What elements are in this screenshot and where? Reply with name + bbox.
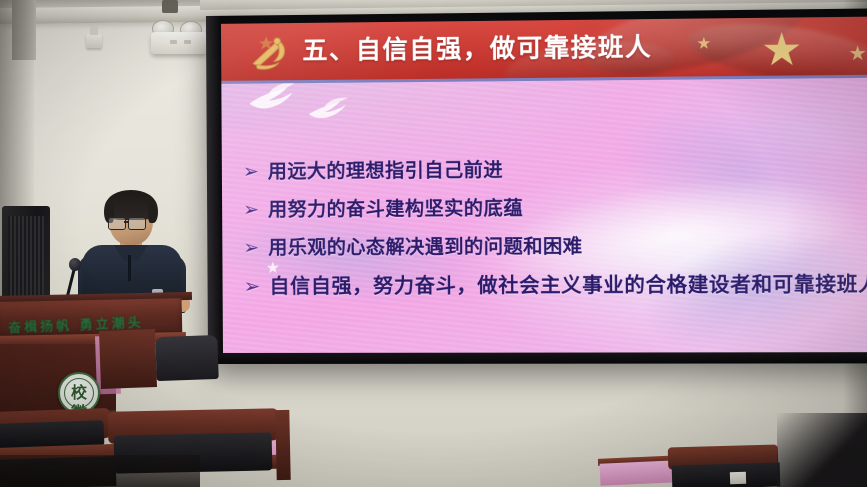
slide-bullet-item: ➢ 用远大的理想指引自己前进 <box>243 154 863 184</box>
floor-shadow <box>0 455 200 487</box>
foreground-corner-shadow <box>777 413 867 487</box>
bullet-text: 用乐观的心态解决遇到的问题和困难 <box>268 233 582 261</box>
bullet-arrow-icon: ➢ <box>244 273 261 299</box>
screen-bezel-left <box>206 16 223 364</box>
seat-side-panel <box>275 410 290 480</box>
dove-icon-left <box>246 81 304 112</box>
seat-back-wood-mid <box>99 329 157 389</box>
bullet-text: 用努力的奋斗建构坚实的底蕴 <box>268 195 523 223</box>
led-display-frame: 五、自信自强，做可靠接班人 ➢ 用远大的理想指引自己前进 ➢ 用努力的奋斗建构坚… <box>206 8 867 364</box>
lecture-hall-scene: 五、自信自强，做可靠接班人 ➢ 用远大的理想指引自己前进 ➢ 用努力的奋斗建构坚… <box>0 0 867 487</box>
emergency-light-unit <box>151 32 207 54</box>
slide-bullet-list: ➢ 用远大的理想指引自己前进 ➢ 用努力的奋斗建构坚实的底蕴 ➢ 用乐观的心态解… <box>243 154 864 311</box>
bench-surface-reflection-right <box>600 460 679 485</box>
slide-title-bar: 五、自信自强，做可靠接班人 <box>220 17 867 84</box>
glasses-lens-left <box>108 217 126 230</box>
slide-bullet-item: ➢ 用乐观的心态解决遇到的问题和困难 <box>243 232 863 261</box>
ceiling-mount-bracket <box>162 0 178 13</box>
emergency-light-led-left <box>170 40 177 44</box>
presenter-shirt-placket <box>128 255 131 281</box>
dove-icon-right <box>307 97 353 121</box>
glasses-lens-right <box>128 217 146 230</box>
glasses-bridge <box>124 221 129 223</box>
bullet-text: 自信自强，努力奋斗，做社会主义事业的合格建设者和可靠接班人 <box>269 271 867 299</box>
presenter-hair-side-right <box>148 199 158 223</box>
loudspeaker-grille <box>8 216 44 302</box>
microphone-head-icon <box>69 258 81 271</box>
name-card <box>730 472 746 484</box>
seat-cushion <box>672 462 781 487</box>
emergency-light-led-right <box>184 40 191 44</box>
screen-bezel-bottom <box>208 352 867 364</box>
slide-bullet-item: ➢ 自信自强，努力奋斗，做社会主义事业的合格建设者和可靠接班人 <box>244 271 864 299</box>
bullet-arrow-icon: ➢ <box>243 197 259 223</box>
bullet-arrow-icon: ➢ <box>243 235 259 261</box>
slide-bullet-item: ➢ 用努力的奋斗建构坚实的底蕴 <box>243 193 863 223</box>
led-display-screen[interactable]: 五、自信自强，做可靠接班人 ➢ 用远大的理想指引自己前进 ➢ 用努力的奋斗建构坚… <box>220 17 867 354</box>
party-emblem-icon <box>246 32 290 73</box>
bullet-text: 用远大的理想指引自己前进 <box>268 157 503 185</box>
slide-title: 五、自信自强，做可靠接班人 <box>302 28 652 70</box>
seat-cushion-mid <box>155 335 218 381</box>
seat-row-right <box>608 444 768 487</box>
wall-sensor-box <box>86 34 102 48</box>
bullet-arrow-icon: ➢ <box>243 159 259 185</box>
